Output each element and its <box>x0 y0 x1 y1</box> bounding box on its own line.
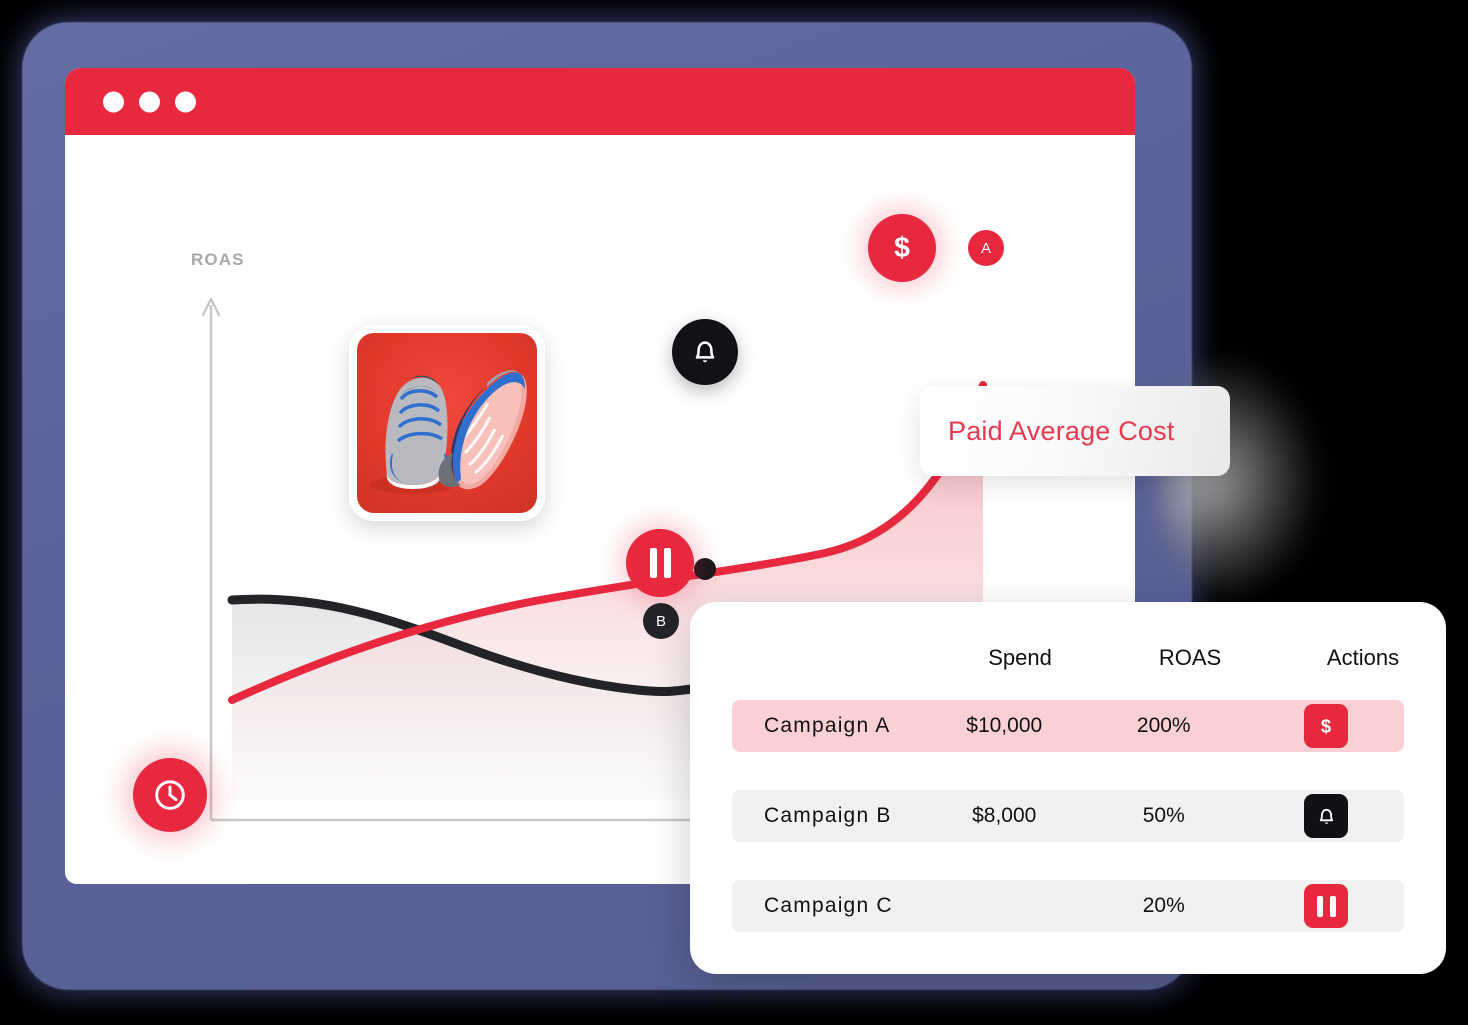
table-row[interactable]: Campaign B $8,000 50% <box>732 790 1404 842</box>
point-b-label: B <box>656 614 666 629</box>
pause-icon <box>1317 896 1336 917</box>
pause-badge[interactable] <box>626 529 694 597</box>
product-photo <box>357 333 537 513</box>
campaign-actions: $ <box>1248 704 1404 748</box>
campaign-name: Campaign C <box>732 894 929 918</box>
screenshot-stage: ROAS <box>0 0 1468 1025</box>
minimize-dot-icon[interactable] <box>139 91 160 112</box>
bell-icon <box>689 336 721 368</box>
point-a-label: A <box>981 241 991 256</box>
table-row[interactable]: Campaign C 20% <box>732 880 1404 932</box>
pause-icon <box>650 548 671 578</box>
campaign-name: Campaign B <box>732 804 929 828</box>
maximize-dot-icon[interactable] <box>175 91 196 112</box>
pause-campaign-button[interactable] <box>1304 884 1348 928</box>
notify-button[interactable] <box>1304 794 1348 838</box>
svg-text:$: $ <box>894 232 910 264</box>
bell-badge[interactable] <box>672 319 738 385</box>
col-header-roas: ROAS <box>1100 645 1280 671</box>
campaign-spend: $8,000 <box>929 804 1079 828</box>
dollar-icon: $ <box>885 231 919 265</box>
campaign-name: Campaign A <box>732 714 929 738</box>
col-header-actions: Actions <box>1280 645 1446 671</box>
clock-icon <box>149 774 191 816</box>
campaign-actions <box>1248 794 1404 838</box>
clock-button[interactable] <box>133 758 207 832</box>
boost-budget-button[interactable]: $ <box>1304 704 1348 748</box>
campaign-roas: 200% <box>1079 714 1248 738</box>
svg-text:$: $ <box>1321 715 1331 736</box>
campaign-panel: Spend ROAS Actions Campaign A $10,000 20… <box>690 602 1446 974</box>
campaign-table-rows: Campaign A $10,000 200% $ Campaign B $8,… <box>690 700 1446 970</box>
traffic-light-dots <box>103 91 196 112</box>
tooltip-label: Paid Average Cost <box>920 416 1175 447</box>
bell-icon <box>1315 805 1338 828</box>
product-image-card[interactable] <box>349 325 545 521</box>
col-header-spend: Spend <box>940 645 1100 671</box>
campaign-roas: 20% <box>1079 894 1248 918</box>
dollar-badge[interactable]: $ <box>868 214 936 282</box>
campaign-table-header: Spend ROAS Actions <box>690 638 1446 678</box>
point-a-marker[interactable]: A <box>968 230 1004 266</box>
close-dot-icon[interactable] <box>103 91 124 112</box>
paid-average-cost-tooltip[interactable]: Paid Average Cost <box>920 386 1230 476</box>
campaign-spend: $10,000 <box>929 714 1079 738</box>
running-shoes-icon <box>357 333 537 513</box>
table-row[interactable]: Campaign A $10,000 200% $ <box>732 700 1404 752</box>
bell-anchor-dot <box>694 558 716 580</box>
point-b-marker[interactable]: B <box>643 603 679 639</box>
dollar-icon: $ <box>1315 715 1337 737</box>
campaign-roas: 50% <box>1079 804 1248 828</box>
campaign-actions <box>1248 884 1404 928</box>
browser-titlebar <box>65 68 1135 135</box>
